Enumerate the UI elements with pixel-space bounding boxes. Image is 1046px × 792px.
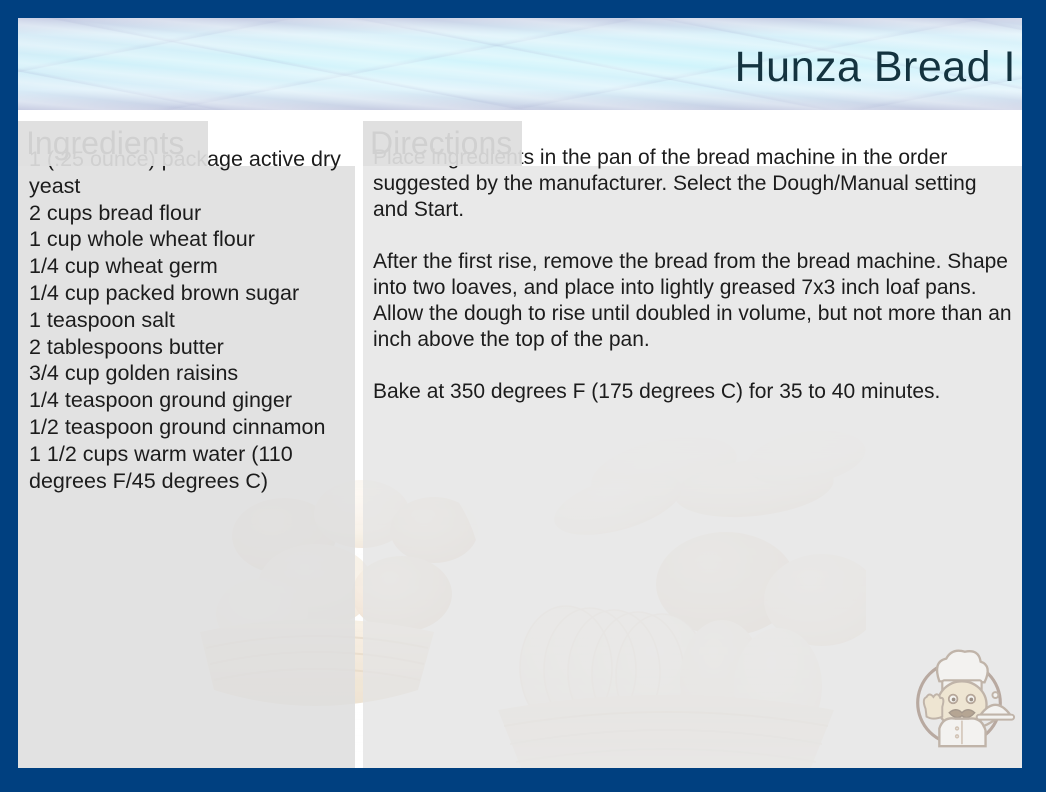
list-item: 2 tablespoons butter (29, 334, 347, 361)
directions-panel: Directions Place ingredients in the pan … (363, 121, 1022, 768)
content-panels: Ingredients 1 (.25 ounce) package active… (18, 121, 1022, 768)
directions-text: Place ingredients in the pan of the brea… (373, 145, 1014, 405)
list-item: 1 cup whole wheat flour (29, 226, 347, 253)
list-item: 1 1/2 cups warm water (110 degrees F/45 … (29, 441, 347, 495)
list-item: 1/4 cup packed brown sugar (29, 280, 347, 307)
list-item: 1/4 teaspoon ground ginger (29, 387, 347, 414)
direction-paragraph: After the first rise, remove the bread f… (373, 249, 1014, 353)
list-item: 1/2 teaspoon ground cinnamon (29, 414, 347, 441)
list-item: 1/4 cup wheat germ (29, 253, 347, 280)
ingredients-tab (18, 121, 208, 166)
direction-paragraph: Bake at 350 degrees F (175 degrees C) fo… (373, 379, 1014, 405)
list-item: 1 teaspoon salt (29, 307, 347, 334)
slide-canvas: Hunza Bread I (18, 18, 1022, 768)
list-item: 2 cups bread flour (29, 200, 347, 227)
slide-frame: Hunza Bread I (0, 0, 1046, 792)
ingredient-list: 1 (.25 ounce) package active dry yeast 2… (29, 146, 347, 494)
page-title: Hunza Bread I (735, 44, 1016, 90)
ingredients-panel: Ingredients 1 (.25 ounce) package active… (18, 121, 355, 768)
header-banner: Hunza Bread I (18, 18, 1022, 110)
directions-tab (363, 121, 522, 166)
list-item: 3/4 cup golden raisins (29, 360, 347, 387)
